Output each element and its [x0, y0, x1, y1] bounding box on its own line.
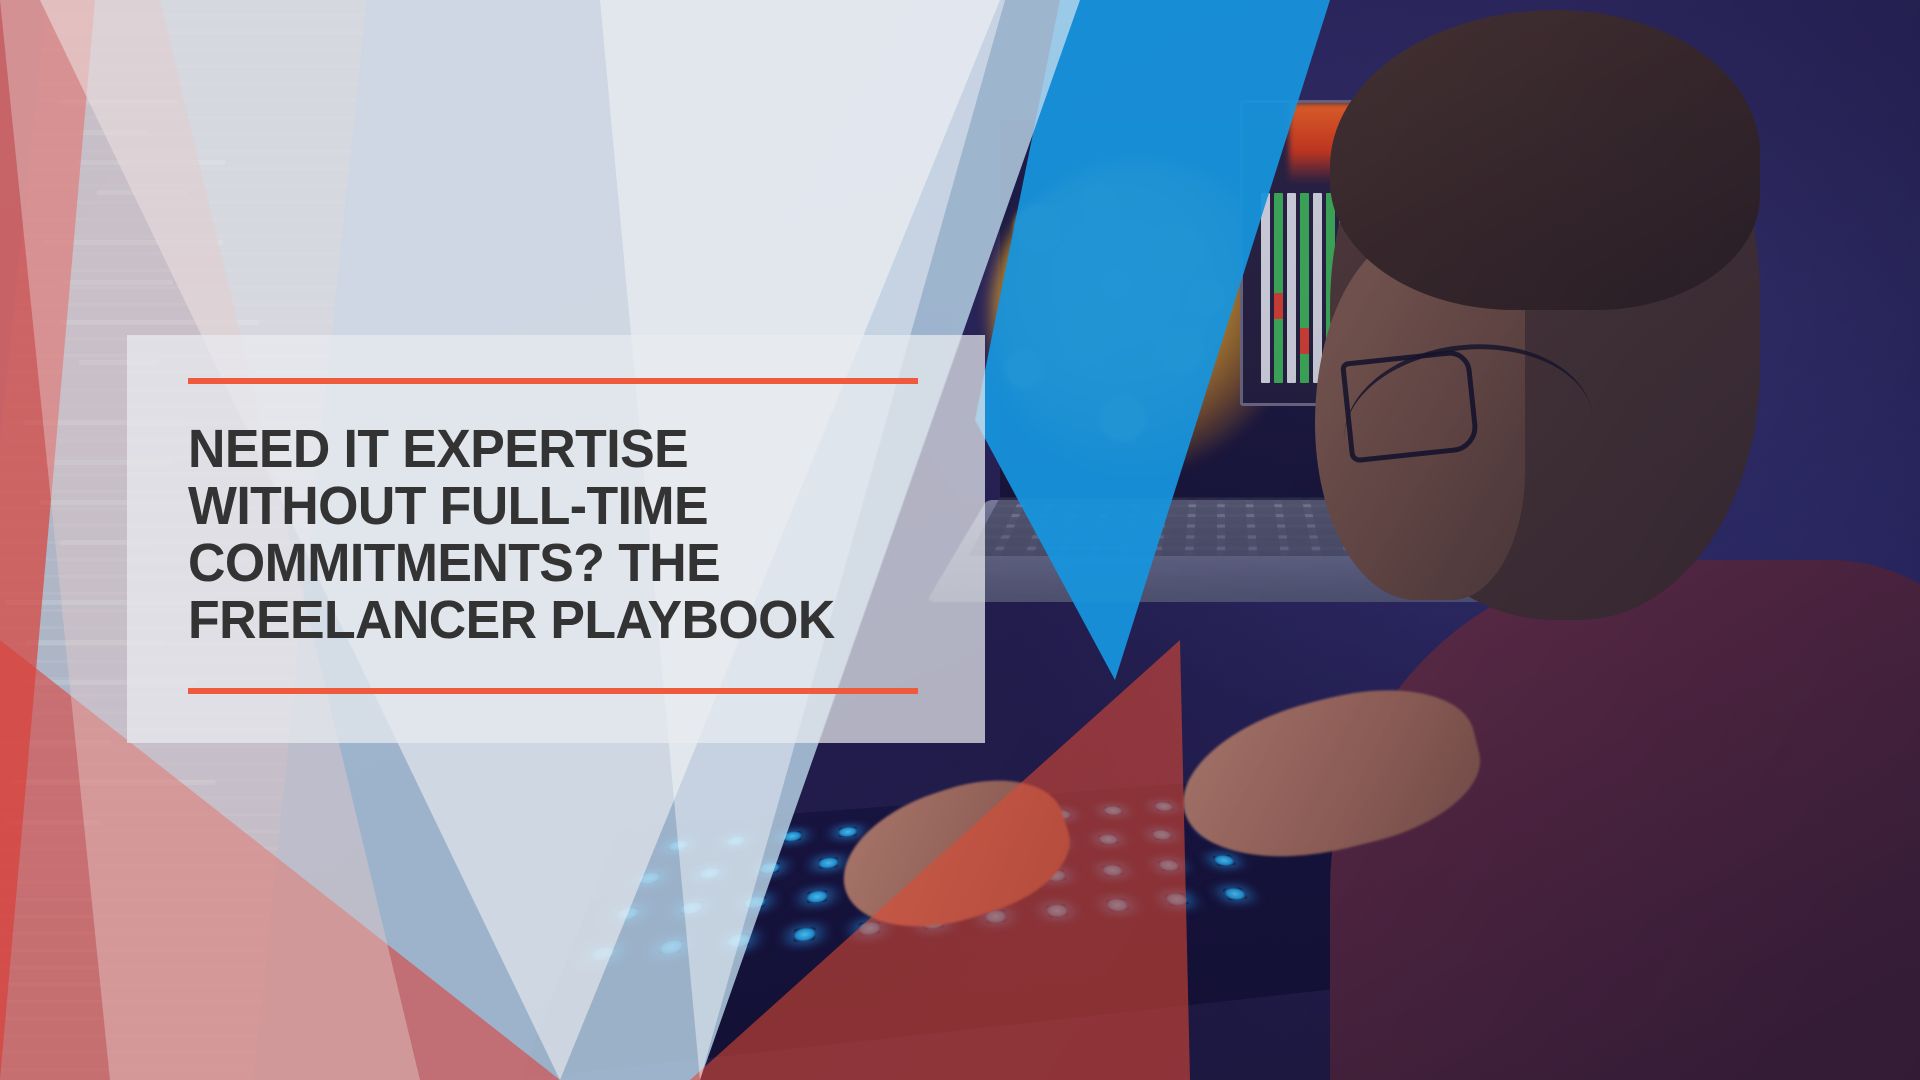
headline-line-4: FREELANCER PLAYBOOK	[188, 590, 835, 650]
headline-panel: NEED IT EXPERTISE WITHOUT FULL-TIME COMM…	[127, 335, 985, 743]
hero-banner: NEED IT EXPERTISE WITHOUT FULL-TIME COMM…	[0, 0, 1920, 1080]
headline-line-1: NEED IT EXPERTISE	[188, 419, 688, 479]
headline-line-2: WITHOUT FULL-TIME	[188, 476, 708, 536]
accent-rule-bottom	[188, 688, 918, 694]
accent-rule-top	[188, 378, 918, 384]
page-title: NEED IT EXPERTISE WITHOUT FULL-TIME COMM…	[188, 421, 918, 649]
headline-line-3: COMMITMENTS? THE	[188, 533, 720, 593]
